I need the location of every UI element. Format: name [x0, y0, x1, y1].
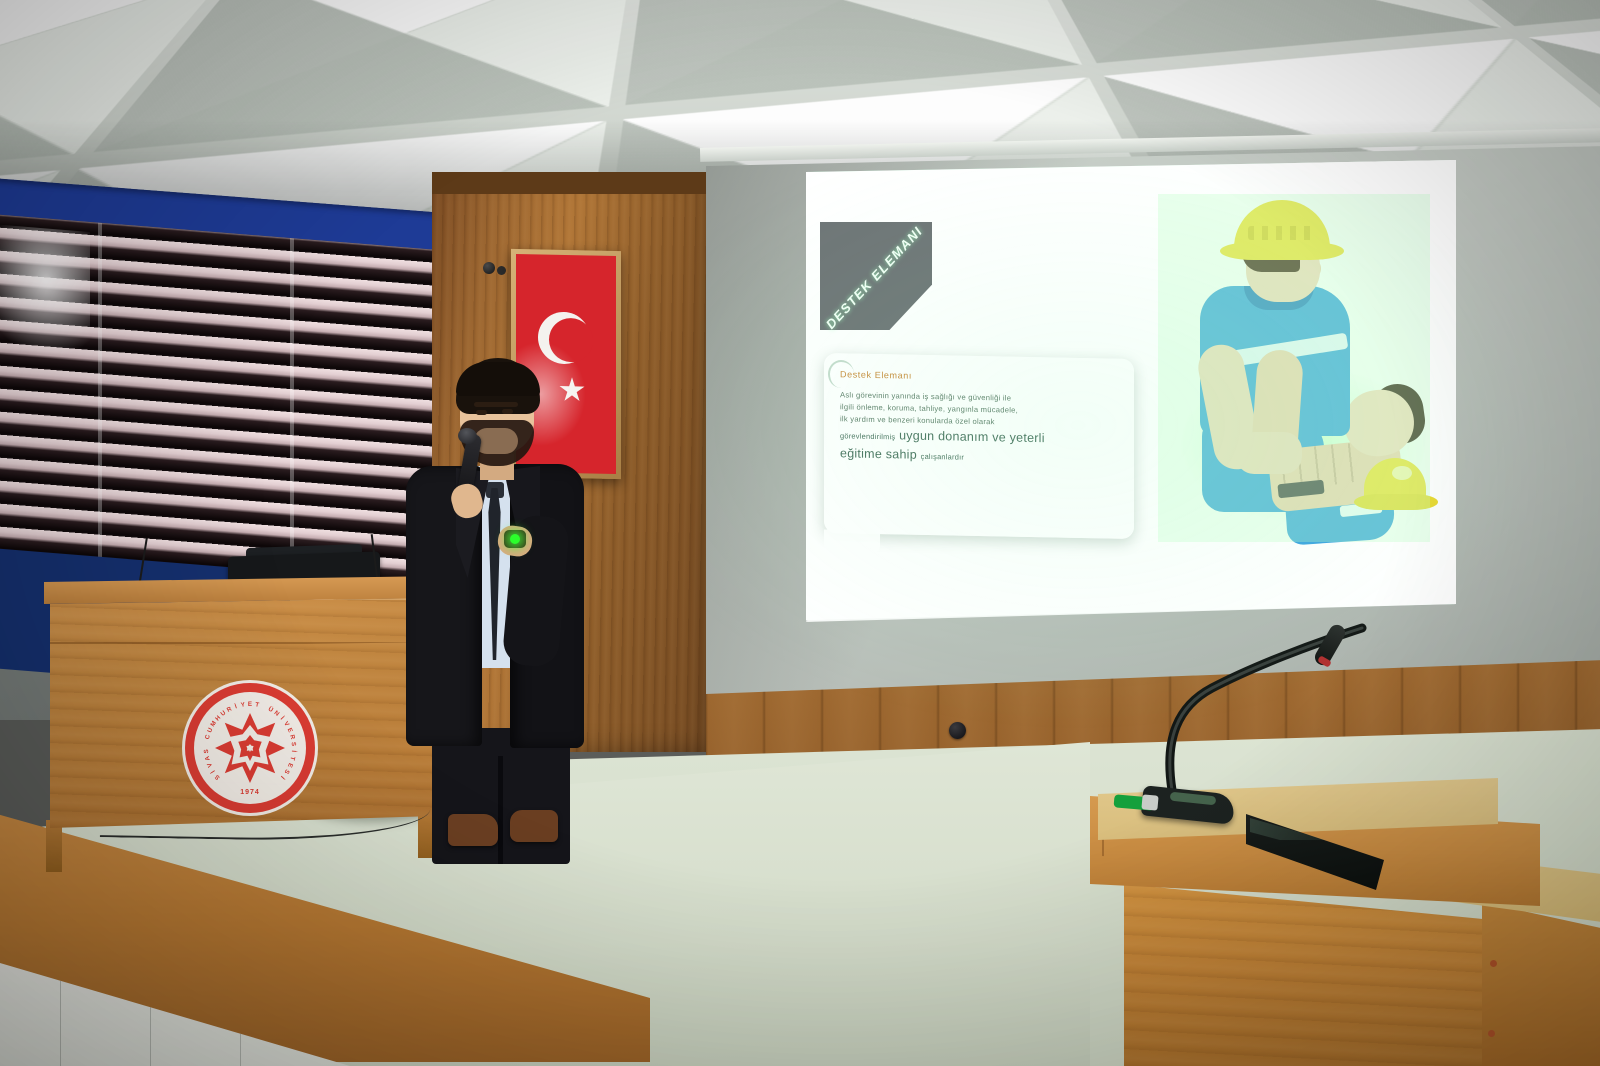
wall-knob-icon	[497, 266, 506, 275]
seal-ring-char: A	[204, 755, 212, 761]
slide-ribbon-label-wrap: DESTEK ELEMANI	[812, 224, 936, 330]
hard-hat-brim	[1220, 242, 1344, 260]
seal-ring-char: Y	[240, 701, 245, 709]
seal-ring-char: T	[288, 756, 296, 761]
wall-trim	[432, 172, 724, 194]
window-light-glare	[0, 223, 90, 362]
seal-ring-char: E	[248, 701, 252, 708]
presenter-leg-split	[498, 756, 503, 864]
presenter-eye	[502, 409, 513, 414]
slide-body-small: görevlendirilmiş	[840, 431, 895, 441]
desk-side-panel	[1482, 902, 1600, 1066]
university-seal: SİVAS CUMHURİYET ÜNİVERSİTESİ 1974	[194, 692, 306, 804]
podium-rail	[50, 598, 434, 644]
seal-ring-char: E	[286, 762, 294, 769]
seal-ring-char: İ	[279, 715, 285, 721]
seal-ring-char: S	[290, 742, 297, 747]
wall-speaker-icon	[949, 722, 966, 739]
slide-body-large: eğitime sahip	[840, 446, 921, 462]
desk-screw-cap	[1490, 960, 1497, 967]
seal-ring-char: M	[209, 720, 218, 728]
seal-year: 1974	[194, 789, 306, 796]
slide-card-tail	[824, 529, 880, 554]
hard-hat-ridge	[1248, 226, 1318, 240]
presenter-remote-led-icon	[510, 534, 520, 544]
presenter-eye	[476, 410, 487, 415]
seal-ring-char: İ	[290, 750, 297, 752]
seal-ring-text: SİVAS CUMHURİYET ÜNİVERSİTESİ	[194, 692, 306, 804]
ground-helmet-brim	[1354, 494, 1438, 510]
wall-knob-icon	[483, 262, 495, 274]
seal-ring-char: T	[255, 701, 260, 709]
desk-screw-cap	[1488, 1030, 1495, 1037]
presenter-brow	[474, 402, 518, 407]
seal-ring-char: U	[219, 709, 227, 717]
seal-ring-char: N	[273, 709, 281, 717]
presenter-person	[398, 356, 588, 856]
seal-ring-char: R	[288, 734, 296, 740]
seal-ring-char: S	[203, 749, 210, 754]
seal-ring-char: R	[226, 706, 233, 714]
seal-ring-char: V	[206, 762, 214, 769]
seal-ring-char	[262, 703, 266, 710]
blind-divider	[290, 238, 294, 598]
seal-ring-char: E	[286, 727, 294, 734]
slide-card-content: Destek Elemanı Aslı görevinin yanında iş…	[840, 369, 1124, 468]
slide-body-large: uygun donanım ve yeterli	[895, 428, 1044, 445]
presenter-shoe	[448, 814, 498, 846]
blind-divider	[98, 223, 102, 583]
projected-slide: DESTEK ELEMANI Destek Elemanı Aslı görev…	[806, 160, 1456, 630]
seal-ring-char: İ	[279, 774, 285, 780]
ground-helmet-highlight	[1392, 466, 1412, 480]
seal-ring-char: İ	[234, 703, 238, 710]
slide-ribbon-label: DESTEK ELEMANI	[823, 223, 926, 332]
seal-ring-char: S	[283, 768, 291, 775]
seal-ring-char: V	[282, 720, 290, 727]
seal-ring-char	[203, 743, 210, 745]
slide-body-small: çalışanlardır	[921, 451, 965, 461]
presenter-shoe	[510, 810, 558, 842]
seal-ring-char: U	[206, 727, 214, 734]
conference-hall-scene: DESTEK ELEMANI Destek Elemanı Aslı görev…	[0, 0, 1600, 1066]
seal-ring-char: İ	[210, 769, 217, 774]
seal-ring-char: C	[204, 734, 212, 740]
foreground-desk[interactable]	[1090, 778, 1600, 1066]
seal-ring-char: S	[214, 773, 222, 781]
cpr-first-aid-illustration	[1158, 194, 1430, 542]
slide-body-line: eğitime sahip çalışanlardır	[840, 445, 1124, 467]
rescuer-hands	[1236, 432, 1302, 474]
microphone-connector-collar	[1141, 794, 1158, 810]
paper-curl-icon	[1102, 312, 1128, 342]
presenter-hair-top	[456, 362, 540, 396]
